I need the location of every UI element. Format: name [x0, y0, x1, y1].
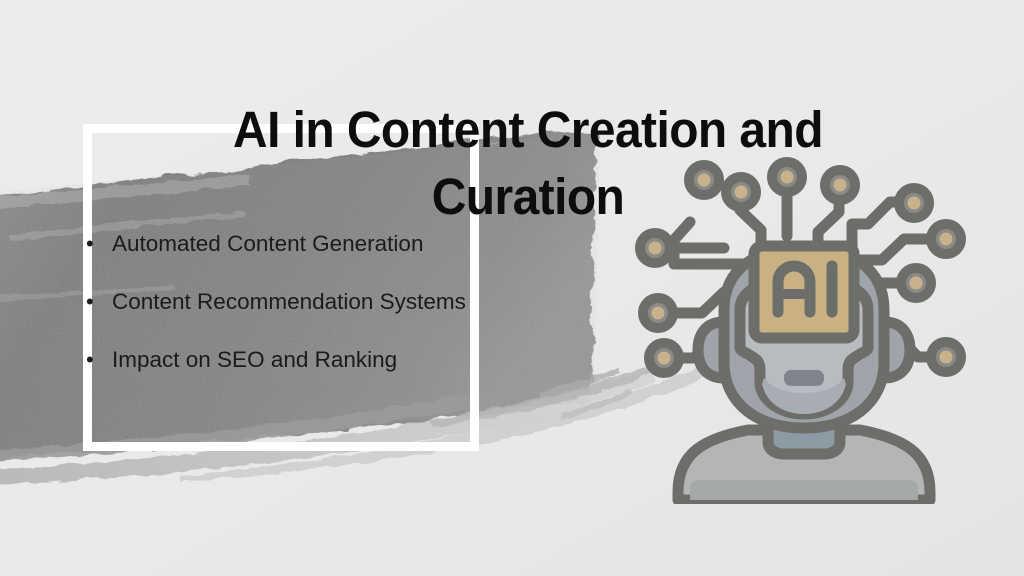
- bullet-marker-icon: •: [86, 348, 112, 372]
- bullet-label: Automated Content Generation: [112, 232, 556, 257]
- bullet-list: • Automated Content Generation • Content…: [86, 232, 556, 372]
- bullet-label: Content Recommendation Systems: [112, 290, 556, 315]
- page-title: AI in Content Creation and Curation: [173, 96, 884, 231]
- ai-chip: [754, 246, 854, 338]
- bullet-marker-icon: •: [86, 232, 112, 256]
- list-item: • Content Recommendation Systems: [86, 290, 556, 315]
- bullet-label: Impact on SEO and Ranking: [112, 348, 556, 373]
- slide-canvas: AI in Content Creation and Curation • Au…: [0, 0, 1024, 576]
- list-item: • Impact on SEO and Ranking: [86, 348, 556, 373]
- list-item: • Automated Content Generation: [86, 232, 556, 257]
- bullet-marker-icon: •: [86, 290, 112, 314]
